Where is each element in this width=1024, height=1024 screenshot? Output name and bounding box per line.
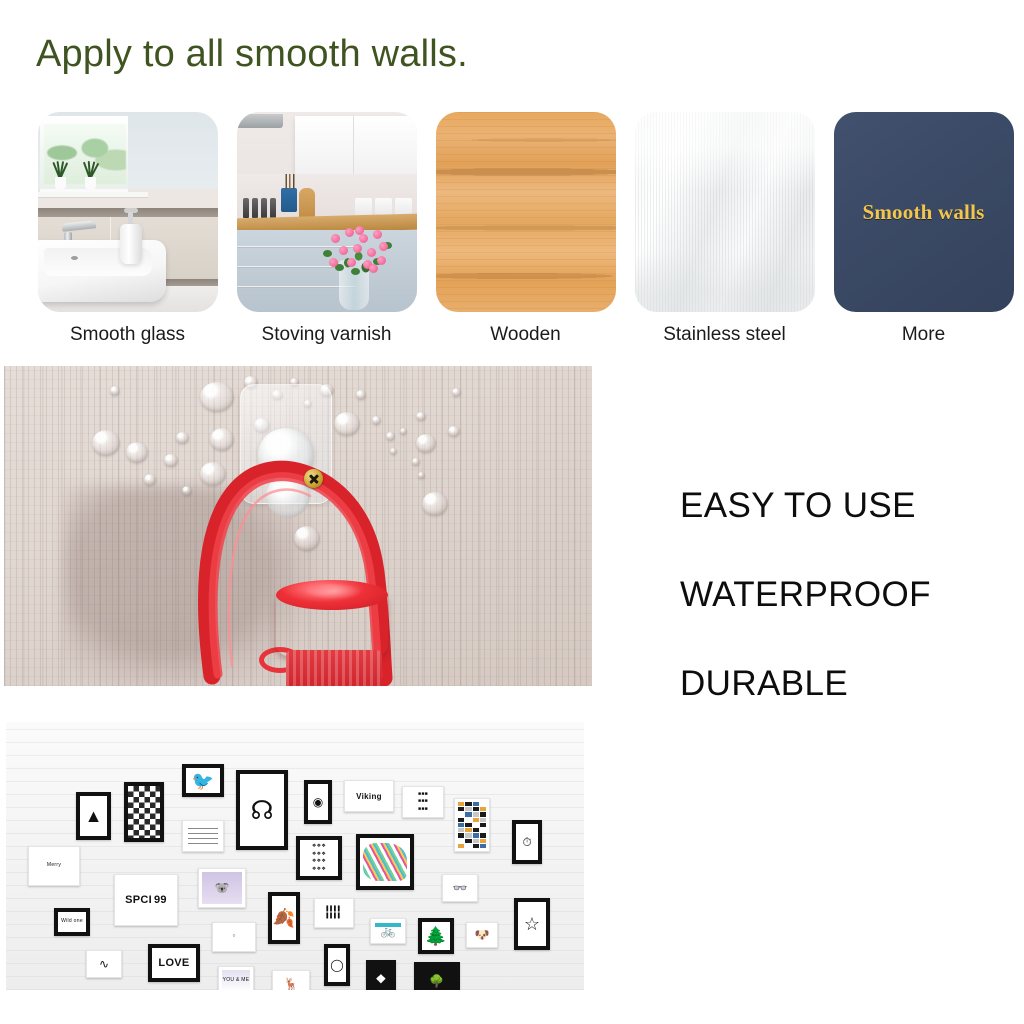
feature-waterproof: WATERPROOF <box>680 575 1010 615</box>
abstract-white-art-icon: ❖ <box>375 973 386 985</box>
picture-frame: 🚲 <box>370 918 406 944</box>
simply-text-art: ○ <box>232 933 235 941</box>
spci-art-text: SPCI <box>125 894 152 906</box>
soap-dispenser-icon <box>120 224 142 264</box>
bathroom-photo-icon <box>38 112 218 312</box>
picture-frame: 🐶 <box>466 922 498 948</box>
you-and-me-text: YOU & ME <box>223 977 250 985</box>
hook-holding-bottle-photo <box>4 366 592 686</box>
cap-emboss-highlight <box>304 584 362 600</box>
picture-frame: Merry <box>28 846 80 886</box>
window-frame <box>40 116 128 194</box>
more-overlay-text: Smooth walls <box>862 200 984 225</box>
love-art-text: LOVE <box>158 957 189 969</box>
scribble-art <box>188 828 217 845</box>
surface-label-smooth-glass: Smooth glass <box>70 324 185 346</box>
surface-item-wooden[interactable]: Wooden <box>426 112 625 358</box>
picture-frame: Viking <box>344 780 394 812</box>
picture-frame <box>454 798 490 852</box>
steel-sheen <box>635 112 815 312</box>
picture-frame: ◉ <box>304 780 332 824</box>
upper-cabinets <box>295 116 417 174</box>
kitchen-photo-icon <box>237 112 417 312</box>
barcode-text-art: ▌▌▌▌▌▌▌▌ <box>326 906 341 921</box>
forest-silhouette-icon: 🌳 <box>429 975 444 987</box>
surface-label-stainless-steel: Stainless steel <box>663 324 786 346</box>
abstract-line-art-icon: ∿ <box>99 958 109 970</box>
diamond-pattern-art <box>128 786 160 838</box>
navy-more-swatch-icon: Smooth walls <box>834 112 1014 312</box>
picture-frame: 🐦 <box>182 764 224 797</box>
picture-frame: ▲ <box>76 792 111 840</box>
oval-frame-art-icon: ◯ <box>330 959 343 971</box>
wild-one-text: Wild one <box>61 918 83 926</box>
clock-icon: ⏱ <box>522 836 531 848</box>
glasses-mustache-icon: 👓 <box>453 882 468 894</box>
pink-flowers-icon <box>321 224 393 274</box>
picture-frame: ∿ <box>86 950 122 978</box>
picture-frame: SPCI 99 <box>114 874 178 926</box>
applicable-surfaces-row: Smooth glass <box>28 112 1024 358</box>
picture-frame: Wild one <box>54 908 90 936</box>
picture-frame: 🐨 <box>198 868 246 908</box>
spci-number-text: 99 <box>154 894 167 906</box>
picture-frame: ❖❖❖❖❖❖❖❖❖❖❖❖ <box>296 836 342 880</box>
dog-face-icon: 🐶 <box>475 929 490 941</box>
picture-frame: ☆ <box>514 898 550 950</box>
surface-item-stainless-steel[interactable]: Stainless steel <box>625 112 824 358</box>
picture-frame-wall-photo: ▲ 🐦 ☊ ◉ Viking ■■■■■■■■■ <box>6 722 584 990</box>
picture-frame: ⏱ <box>512 820 542 864</box>
bottle-icon <box>270 198 276 218</box>
picture-frame: ▌▌▌▌▌▌▌▌ <box>314 898 354 928</box>
picture-frame: YOU & ME <box>218 966 254 990</box>
picture-frame: ◯ <box>324 944 350 986</box>
feature-list: EASY TO USE WATERPROOF DURABLE <box>680 486 1010 704</box>
picture-frame: ○ <box>212 922 256 952</box>
typography-art: ■■■■■■■■■ <box>418 791 428 814</box>
bottle-icon <box>243 198 249 218</box>
bottle-icon <box>252 198 258 218</box>
bird-silhouette-icon: 🐦 <box>192 772 214 790</box>
gold-screw-icon <box>304 469 323 488</box>
range-hood <box>237 114 283 128</box>
color-grid-art <box>458 802 486 848</box>
surface-item-more[interactable]: Smooth walls More <box>824 112 1023 358</box>
rune-typography-art: ❖❖❖❖❖❖❖❖❖❖❖❖ <box>312 843 326 873</box>
picture-frame <box>356 834 414 890</box>
potted-plant-icon <box>84 159 97 189</box>
surface-label-more: More <box>902 324 945 346</box>
picture-frame: 🌳 <box>414 962 460 990</box>
picture-frame: 🌲 <box>418 918 454 954</box>
colorful-zebra-art <box>363 843 407 881</box>
surface-item-stoving-varnish[interactable]: Stoving varnish <box>227 112 426 358</box>
potted-plant-icon <box>54 159 67 189</box>
handwriting-art: Merry <box>47 862 61 870</box>
leaf-icon: 🍂 <box>273 909 295 927</box>
forest-deer-icon: 🐨 <box>215 882 230 894</box>
feature-easy-to-use: EASY TO USE <box>680 486 1010 526</box>
picture-frame: LOVE <box>148 944 200 982</box>
picture-frame: 🦌 <box>272 970 310 990</box>
red-bottle-body <box>286 650 382 686</box>
bike-banner <box>375 923 401 927</box>
deer-head-icon: ▲ <box>85 807 103 825</box>
feature-durable: DURABLE <box>680 664 1010 704</box>
sink-basin <box>38 240 166 302</box>
surface-label-stoving-varnish: Stoving varnish <box>262 324 392 346</box>
surface-label-wooden: Wooden <box>490 324 560 346</box>
bottle-icon <box>261 198 267 218</box>
page-title: Apply to all smooth walls. <box>36 33 468 76</box>
infographic-page: Apply to all smooth walls. <box>0 0 1024 1024</box>
pine-tree-icon: 🌲 <box>425 927 447 945</box>
reindeer-icon: 🦌 <box>284 978 299 990</box>
surface-item-smooth-glass[interactable]: Smooth glass <box>28 112 227 358</box>
wood-texture-swatch-icon <box>436 112 616 312</box>
picture-frame <box>124 782 164 842</box>
picture-frame: ❖ <box>366 960 396 990</box>
sink-drain <box>71 256 78 260</box>
abstract-art-icon: ◉ <box>313 796 323 808</box>
viking-art-text: Viking <box>356 792 382 801</box>
picture-frame: 🍂 <box>268 892 300 944</box>
geometric-deer-icon: ☆ <box>524 915 540 933</box>
picture-frame: ☊ <box>236 770 288 850</box>
picture-frame: ■■■■■■■■■ <box>402 786 444 818</box>
window-sill <box>38 192 148 198</box>
steel-texture-swatch-icon <box>635 112 815 312</box>
picture-frame <box>182 820 224 852</box>
wood-grain-lines <box>436 112 616 312</box>
cutting-board-icon <box>299 188 315 220</box>
picture-frame: 👓 <box>442 874 478 902</box>
antlers-icon: ☊ <box>250 797 273 823</box>
utensil-holder-icon <box>281 188 297 212</box>
